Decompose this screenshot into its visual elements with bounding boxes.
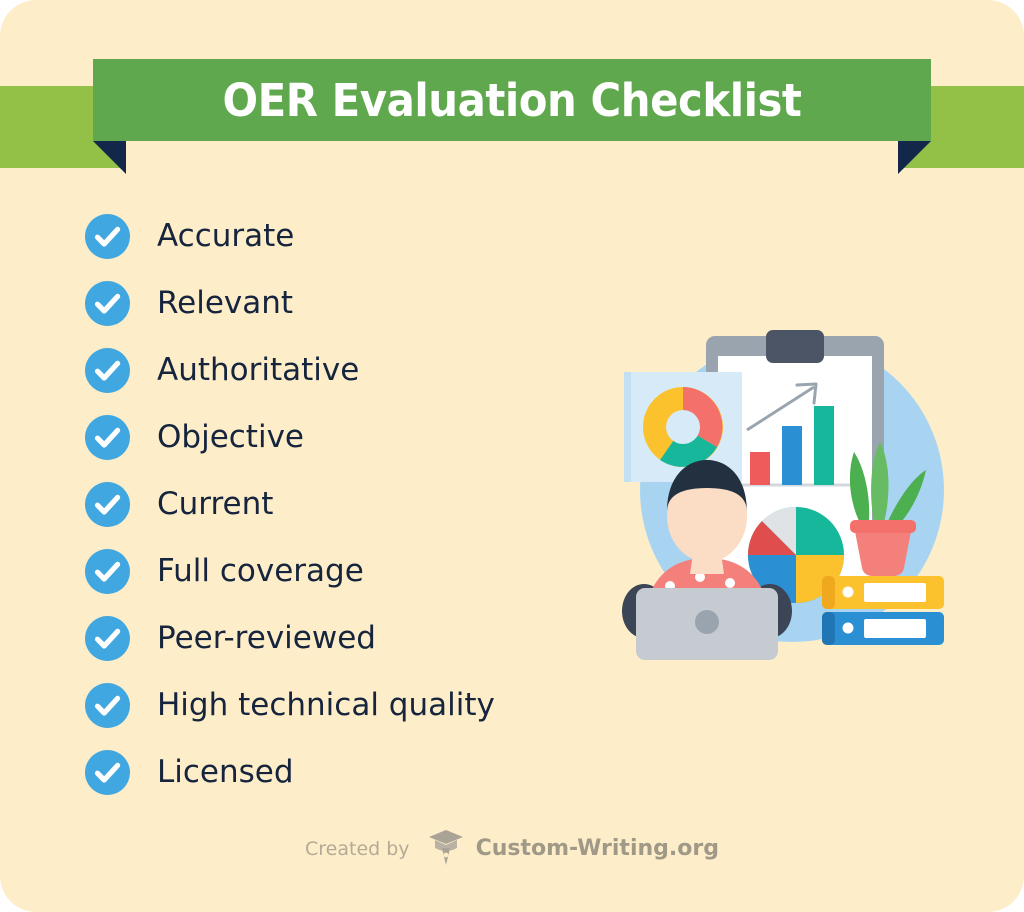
plant-pot	[854, 526, 912, 576]
banner-body: OER Evaluation Checklist	[93, 59, 931, 141]
checklist-item-label: Licensed	[157, 757, 294, 788]
checklist-item-authoritative[interactable]: Authoritative	[85, 337, 605, 404]
banner: OER Evaluation Checklist	[0, 0, 1024, 180]
checklist-item-label: Current	[157, 489, 273, 520]
check-circle-icon	[85, 482, 130, 527]
checklist-item-relevant[interactable]: Relevant	[85, 270, 605, 337]
graduation-cap-pen-nib-icon	[428, 826, 464, 871]
binder-bottom-spine	[822, 612, 835, 645]
laptop-logo-icon	[695, 610, 719, 634]
checklist-item-peer-reviewed[interactable]: Peer-reviewed	[85, 605, 605, 672]
binder-top-label	[864, 583, 926, 602]
bar-1	[750, 452, 770, 485]
created-by-label: Created by	[305, 838, 410, 860]
binder-top-ring	[843, 587, 854, 598]
checklist-item-label: Accurate	[157, 221, 294, 252]
check-circle-icon	[85, 415, 130, 460]
data-analyst-illustration	[614, 330, 954, 660]
checklist-item-licensed[interactable]: Licensed	[85, 739, 605, 806]
check-circle-icon	[85, 549, 130, 594]
check-circle-icon	[85, 683, 130, 728]
check-circle-icon	[85, 750, 130, 795]
checklist-item-current[interactable]: Current	[85, 471, 605, 538]
checklist-item-label: Objective	[157, 422, 304, 453]
donut-hole	[666, 410, 700, 444]
brand-name: Custom-Writing.org	[476, 836, 719, 861]
checklist-item-objective[interactable]: Objective	[85, 404, 605, 471]
clipboard-clip	[766, 330, 824, 363]
donut-chart	[643, 387, 723, 467]
checklist-item-label: Full coverage	[157, 556, 364, 587]
check-circle-icon	[85, 281, 130, 326]
plant-pot-rim	[850, 520, 916, 533]
checklist-item-label: Peer-reviewed	[157, 623, 376, 654]
check-circle-icon	[85, 348, 130, 393]
checklist: Accurate Relevant Authoritative	[85, 203, 605, 806]
bar-2	[782, 426, 802, 485]
page-title: OER Evaluation Checklist	[122, 59, 901, 141]
binder-bottom-label	[864, 619, 926, 638]
binder-top-spine	[822, 576, 835, 609]
footer-attribution: Created by Custom-Writing.org	[0, 826, 1024, 871]
checklist-item-accurate[interactable]: Accurate	[85, 203, 605, 270]
checklist-item-label: High technical quality	[157, 690, 495, 721]
donut-chart-sheet-spine	[624, 372, 631, 482]
checklist-item-high-technical-quality[interactable]: High technical quality	[85, 672, 605, 739]
check-circle-icon	[85, 214, 130, 259]
binder-bottom-ring	[843, 623, 854, 634]
check-circle-icon	[85, 616, 130, 661]
checklist-item-label: Authoritative	[157, 355, 359, 386]
checklist-item-label: Relevant	[157, 288, 293, 319]
checklist-item-full-coverage[interactable]: Full coverage	[85, 538, 605, 605]
infographic-card: OER Evaluation Checklist Accurate Releva…	[0, 0, 1024, 912]
bar-3	[814, 406, 834, 485]
